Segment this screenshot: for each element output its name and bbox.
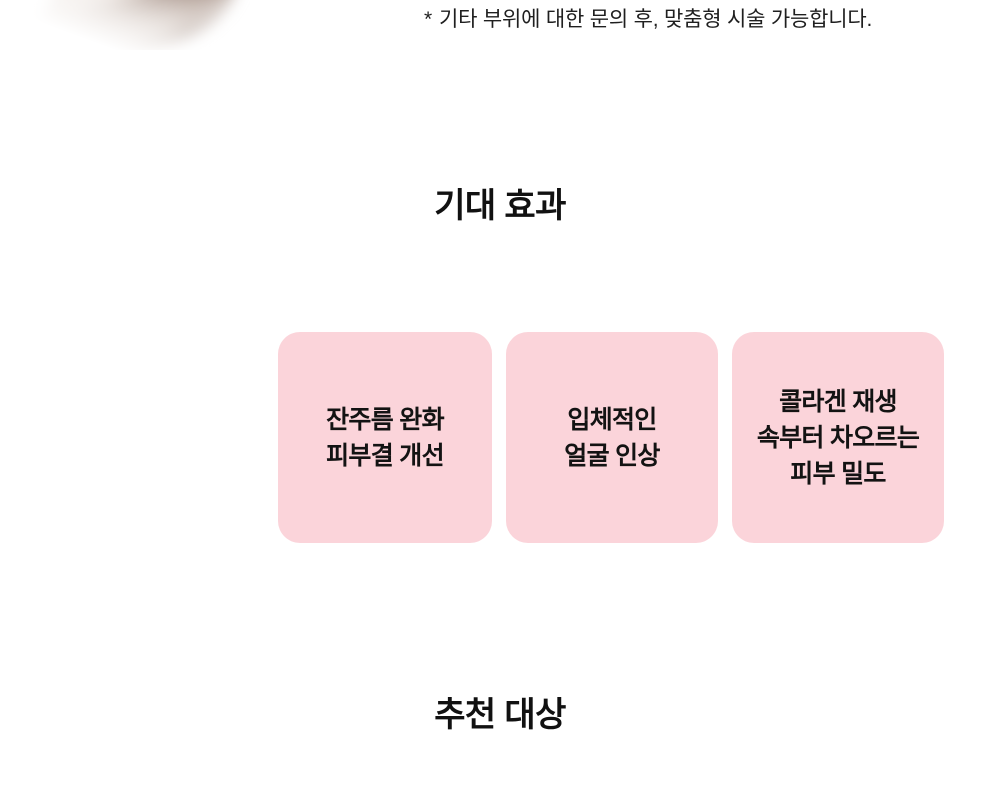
treatment-note-text: 기타 부위에 대한 문의 후, 맞춤형 시술 가능합니다. (439, 8, 872, 31)
asterisk-icon: * (424, 8, 432, 31)
expected-effects-card-row: 잔주름 완화 피부결 개선 입체적인 얼굴 인상 콜라겐 재생 속부터 차오르는… (278, 332, 946, 543)
treatment-note: *기타 부위에 대한 문의 후, 맞춤형 시술 가능합니다. (424, 5, 872, 35)
effect-card-text: 잔주름 완화 피부결 개선 (320, 402, 450, 474)
photo-highlight-shape (42, 0, 201, 24)
effect-card-wrinkle-texture: 잔주름 완화 피부결 개선 (278, 332, 492, 543)
effect-card-line: 입체적인 (564, 402, 659, 438)
effect-card-text: 콜라겐 재생 속부터 차오르는 피부 밀도 (751, 384, 925, 492)
photo-blur-shape (20, 0, 250, 50)
blurred-photo-fragment (20, 0, 250, 50)
recommended-target-heading: 추천 대상 (0, 687, 1000, 736)
effect-card-line: 속부터 차오르는 (757, 420, 919, 456)
effect-card-line: 콜라겐 재생 (757, 384, 919, 420)
expected-effects-heading: 기대 효과 (0, 178, 1000, 227)
effect-card-line: 얼굴 인상 (564, 438, 659, 474)
photo-fade-overlay (20, 0, 250, 50)
effect-card-facial-volume: 입체적인 얼굴 인상 (506, 332, 718, 543)
effect-card-text: 입체적인 얼굴 인상 (558, 402, 665, 474)
effect-card-line: 잔주름 완화 (326, 402, 444, 438)
effect-card-collagen-density: 콜라겐 재생 속부터 차오르는 피부 밀도 (732, 332, 944, 543)
effect-card-line: 피부 밀도 (757, 456, 919, 492)
effect-card-line: 피부결 개선 (326, 438, 444, 474)
